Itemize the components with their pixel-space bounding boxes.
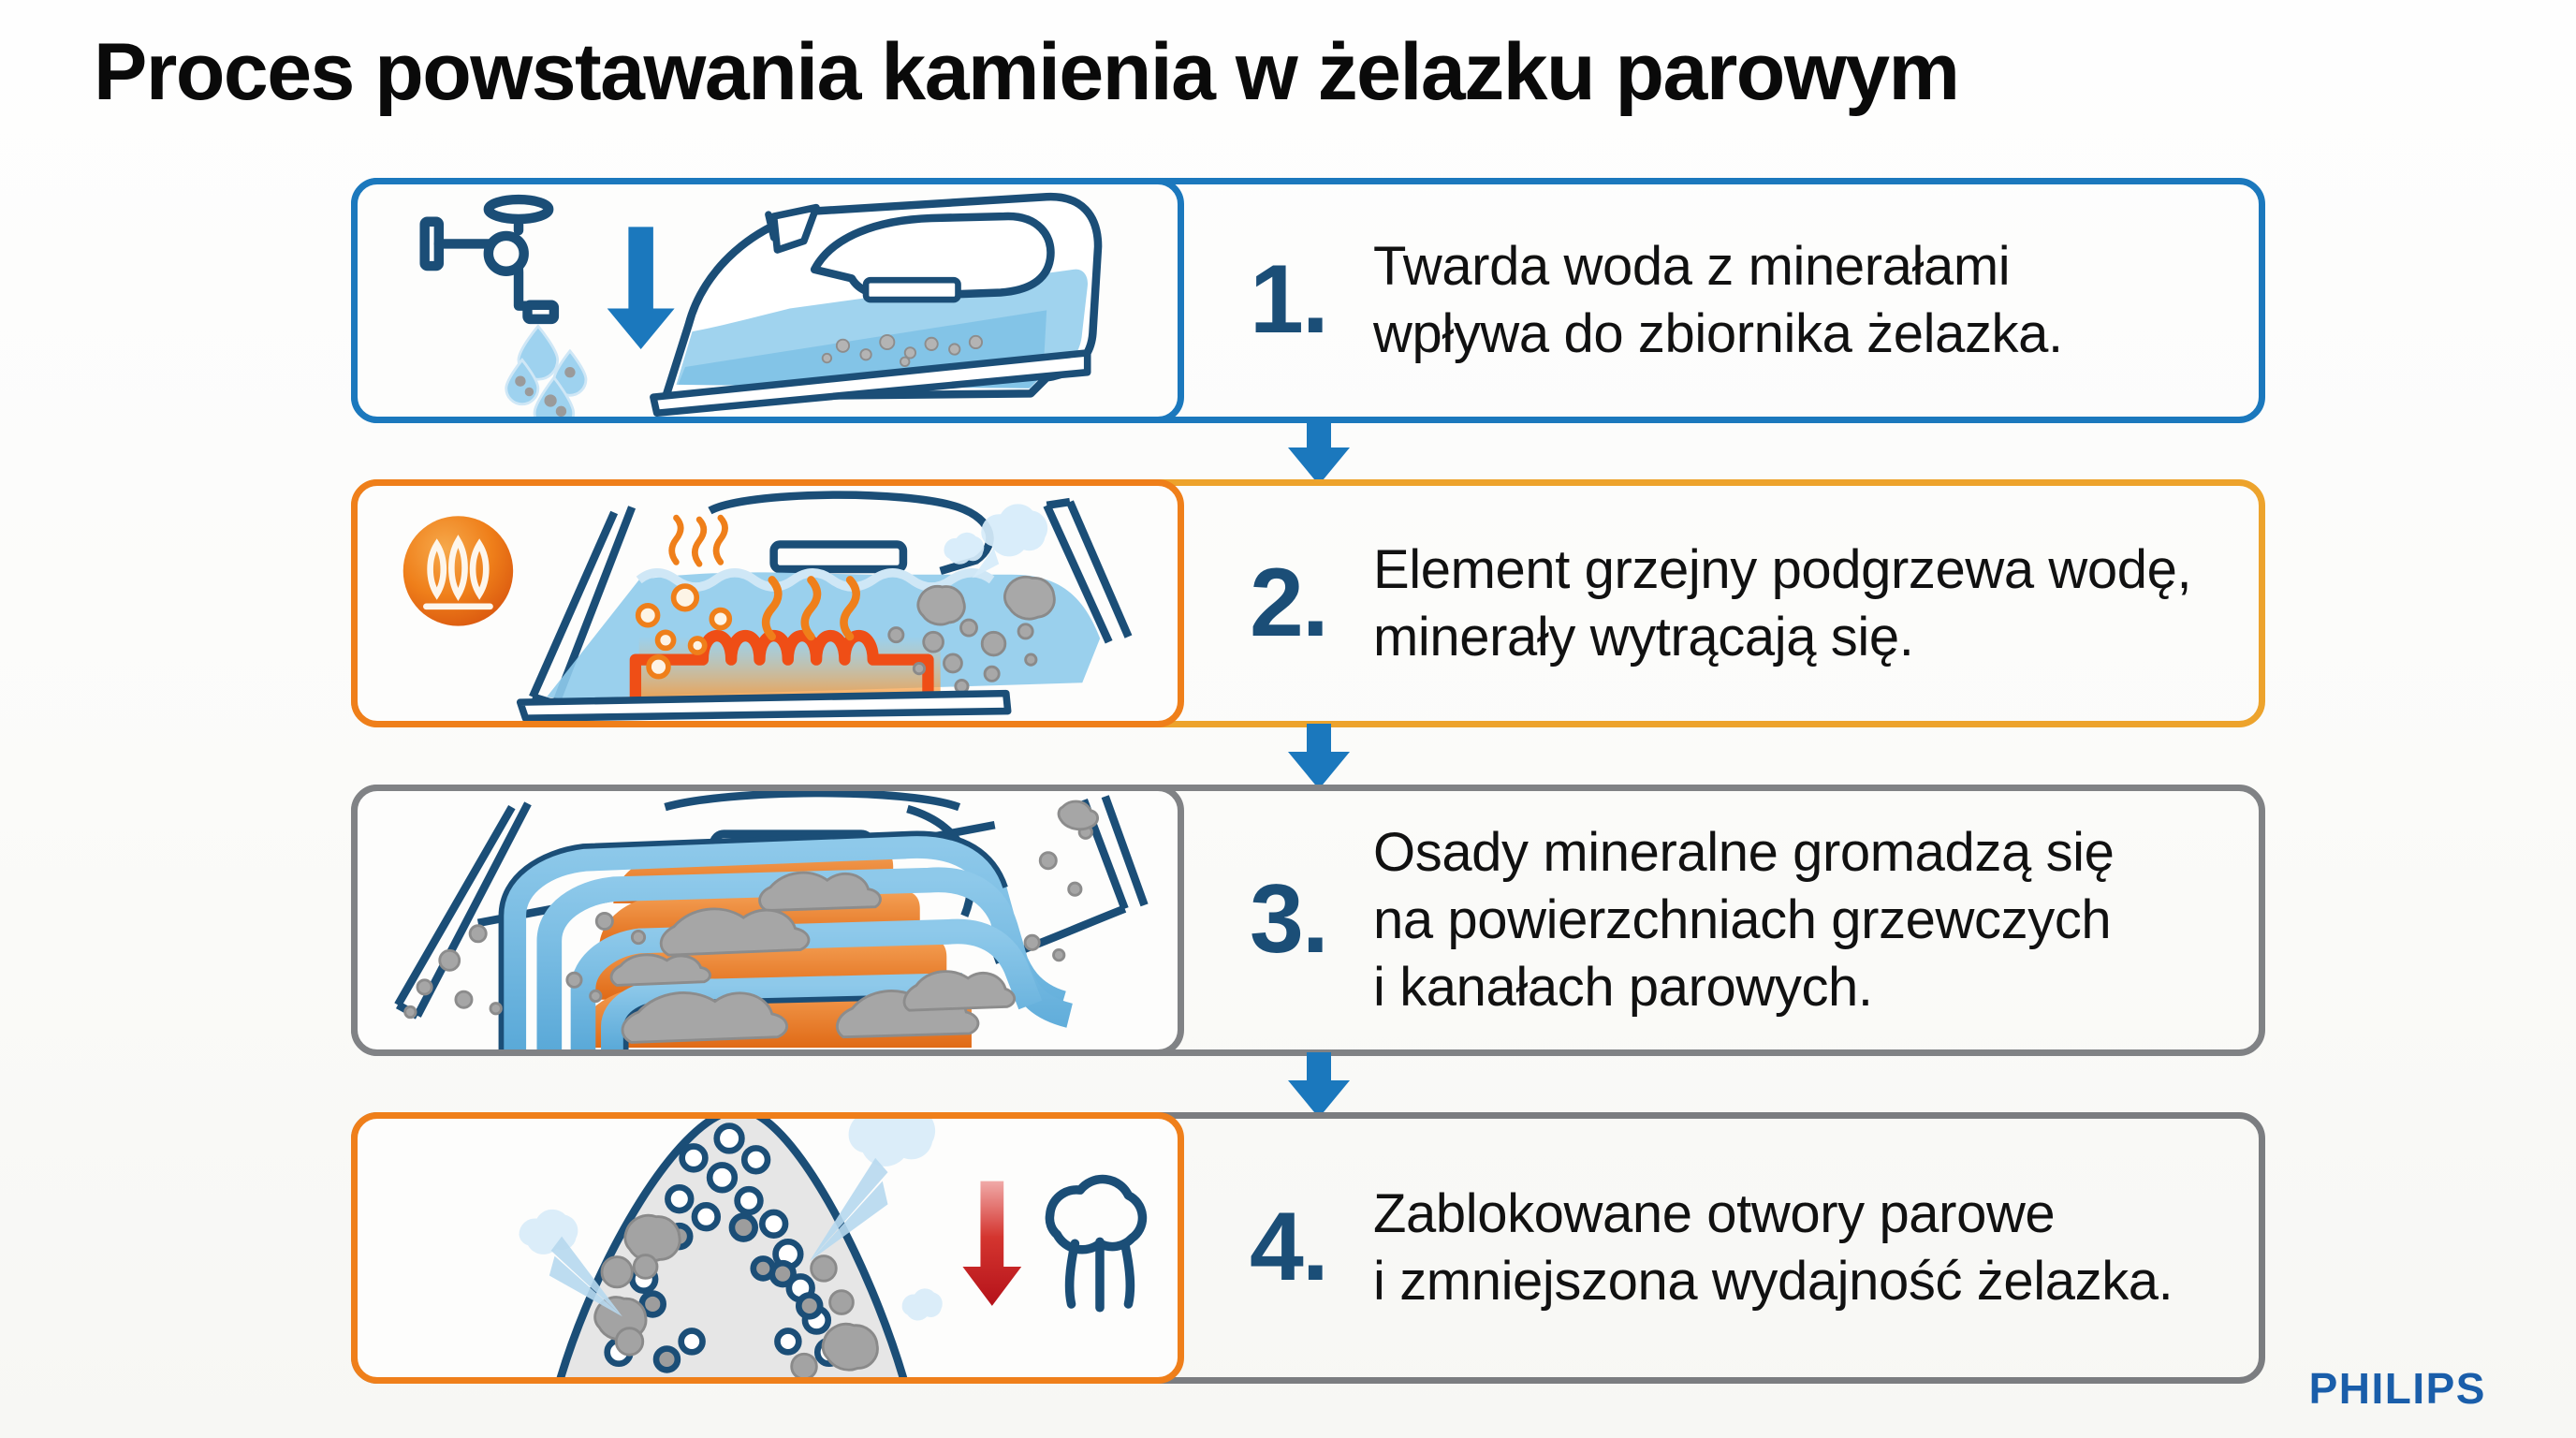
down-arrow-icon: [607, 227, 675, 349]
step-row-1: 1. Twarda woda z minerałami wpływa do zb…: [351, 178, 2265, 423]
heating-element-badge-icon: [403, 516, 513, 625]
step-number-1: 1.: [1250, 257, 1373, 345]
step-text-4: 4. Zablokowane otwory parowe i zmniejszo…: [1184, 1119, 2259, 1377]
illustration-panel-1: [351, 178, 1184, 423]
illustration-panel-4: [351, 1112, 1184, 1384]
steam-cloud-icon: [1049, 1180, 1142, 1308]
red-down-arrow-icon: [962, 1181, 1021, 1306]
step-number-4: 4.: [1250, 1204, 1373, 1292]
down-arrow-icon: [1282, 1052, 1355, 1120]
down-arrow-icon: [1282, 724, 1355, 791]
connector-arrow-1: [1282, 419, 1355, 487]
step-number-3: 3.: [1250, 876, 1373, 964]
step-text-2: 2. Element grzejny podgrzewa wodę, miner…: [1184, 486, 2259, 721]
down-arrow-icon: [1282, 419, 1355, 487]
step-row-4: 4. Zablokowane otwory parowe i zmniejszo…: [351, 1112, 2265, 1384]
scale-deposits-illustration: [358, 791, 1178, 1049]
faucet-icon: [425, 199, 554, 319]
step-row-3: 3. Osady mineralne gromadzą się na powie…: [351, 785, 2265, 1056]
steam-iron-icon: [653, 197, 1098, 413]
faucet-and-iron-illustration: [358, 184, 1178, 417]
step-text-3: 3. Osady mineralne gromadzą się na powie…: [1184, 791, 2259, 1049]
step-text-1: 1. Twarda woda z minerałami wpływa do zb…: [1184, 184, 2259, 417]
page-title: Proces powstawania kamienia w żelazku pa…: [94, 26, 2527, 119]
illustration-panel-3: [351, 785, 1184, 1056]
heating-element-illustration: [358, 486, 1178, 721]
blocked-vents-illustration: [358, 1119, 1178, 1377]
step-description-4: Zablokowane otwory parowe i zmniejszona …: [1373, 1181, 2259, 1315]
step-number-2: 2.: [1250, 560, 1373, 648]
connector-arrow-3: [1282, 1052, 1355, 1120]
step-description-2: Element grzejny podgrzewa wodę, minerały…: [1373, 536, 2259, 671]
step-row-2: 2. Element grzejny podgrzewa wodę, miner…: [351, 479, 2265, 727]
illustration-panel-2: [351, 479, 1184, 727]
philips-logo: PHILIPS: [2309, 1363, 2486, 1414]
step-description-3: Osady mineralne gromadzą się na powierzc…: [1373, 819, 2259, 1021]
water-drop-icon: [506, 326, 586, 417]
step-description-1: Twarda woda z minerałami wpływa do zbior…: [1373, 233, 2259, 368]
connector-arrow-2: [1282, 724, 1355, 791]
